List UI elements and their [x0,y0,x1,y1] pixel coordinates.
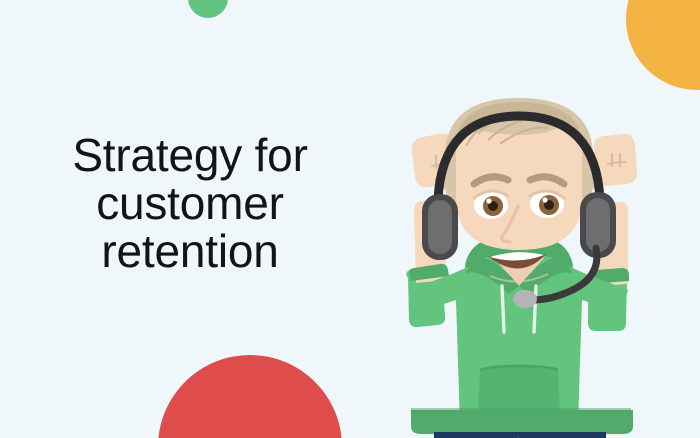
jeans [434,432,606,438]
microphone-tip [513,290,537,308]
page-title: Strategy for customer retention [30,131,350,275]
slide-canvas: Strategy for customer retention [0,0,700,438]
head [443,98,595,282]
orange-circle-decoration [626,0,700,90]
support-agent-illustration [370,80,670,438]
red-circle-decoration [158,355,342,438]
green-circle-decoration [188,0,228,18]
left-ear-cup [422,194,458,260]
